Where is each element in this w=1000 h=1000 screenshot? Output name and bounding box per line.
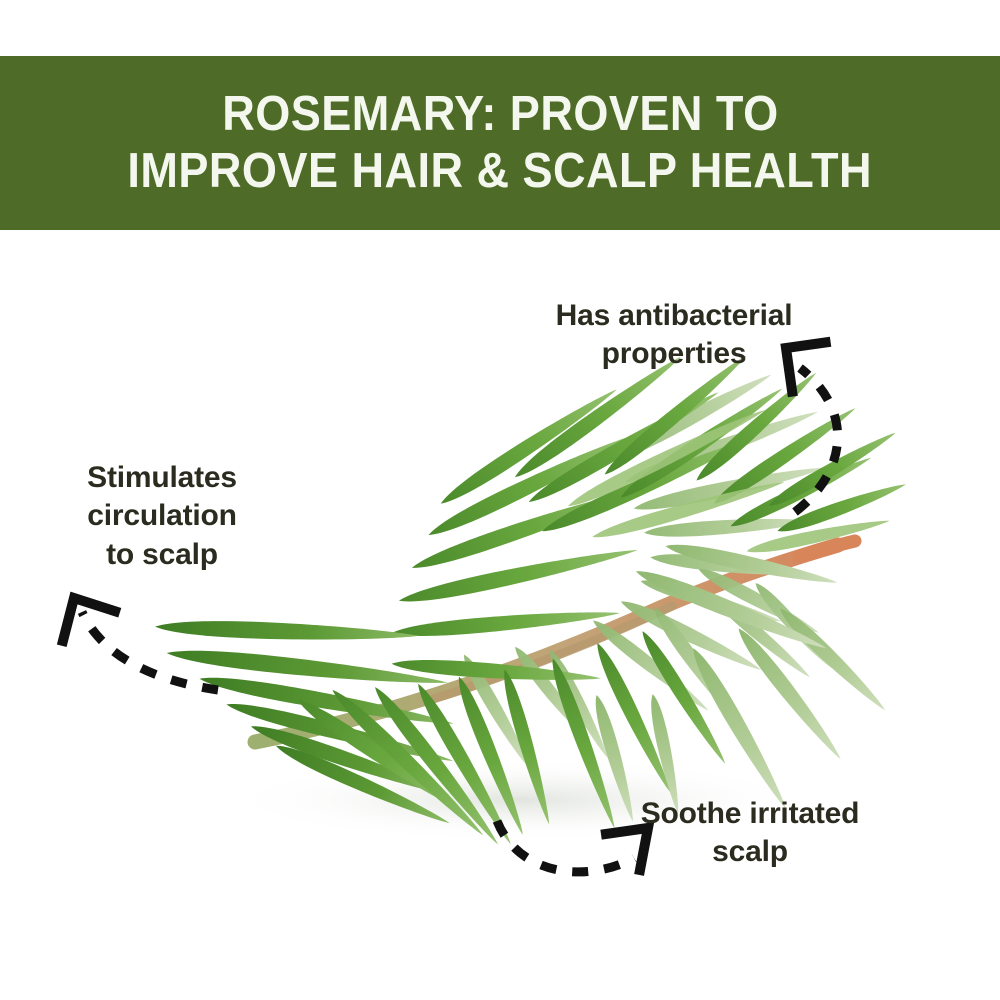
infographic-root: Has antibacterial properties Stimulates … (0, 0, 1000, 1000)
header-banner: ROSEMARY: PROVEN TO IMPROVE HAIR & SCALP… (0, 56, 1000, 230)
callout-circulation: Stimulates circulation to scalp (52, 459, 272, 574)
callout-antibacterial-line-2: properties (514, 335, 834, 373)
banner-title-line-2: IMPROVE HAIR & SCALP HEALTH (128, 143, 873, 200)
callout-circulation-line-3: to scalp (52, 536, 272, 574)
callout-antibacterial-line-1: Has antibacterial (514, 297, 834, 335)
callout-circulation-line-1: Stimulates (52, 459, 272, 497)
callout-soothe: Soothe irritated scalp (600, 795, 900, 872)
callout-circulation-line-2: circulation (52, 497, 272, 535)
callout-soothe-line-1: Soothe irritated (600, 795, 900, 833)
banner-title-line-1: ROSEMARY: PROVEN TO (222, 86, 778, 143)
sprig-leaves-highlight (565, 403, 891, 557)
callout-soothe-line-2: scalp (600, 833, 900, 871)
callout-antibacterial: Has antibacterial properties (514, 297, 834, 374)
